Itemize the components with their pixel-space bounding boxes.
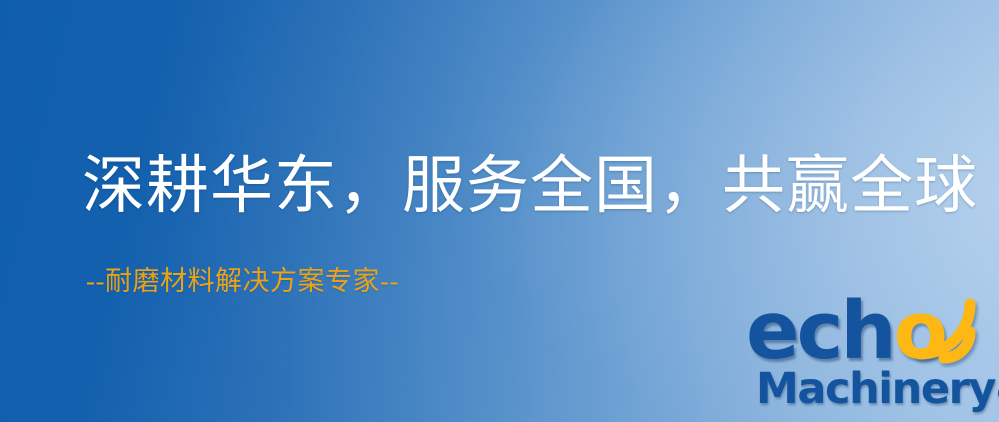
banner-subtitle: --耐磨材料解决方案专家-- xyxy=(86,268,399,295)
company-logo[interactable]: echo Machinery® xyxy=(744,296,996,422)
registered-trademark-icon: ® xyxy=(995,382,999,406)
logo-wordmark: echo xyxy=(744,296,996,374)
signal-waves-icon xyxy=(904,292,996,368)
logo-brand-line2: Machinery xyxy=(756,364,995,414)
banner-headline: 深耕华东，服务全国，共赢全球 xyxy=(82,155,978,218)
logo-machinery-text: Machinery® xyxy=(756,368,999,411)
hero-banner: 深耕华东，服务全国，共赢全球 --耐磨材料解决方案专家-- echo Machi… xyxy=(0,0,999,422)
